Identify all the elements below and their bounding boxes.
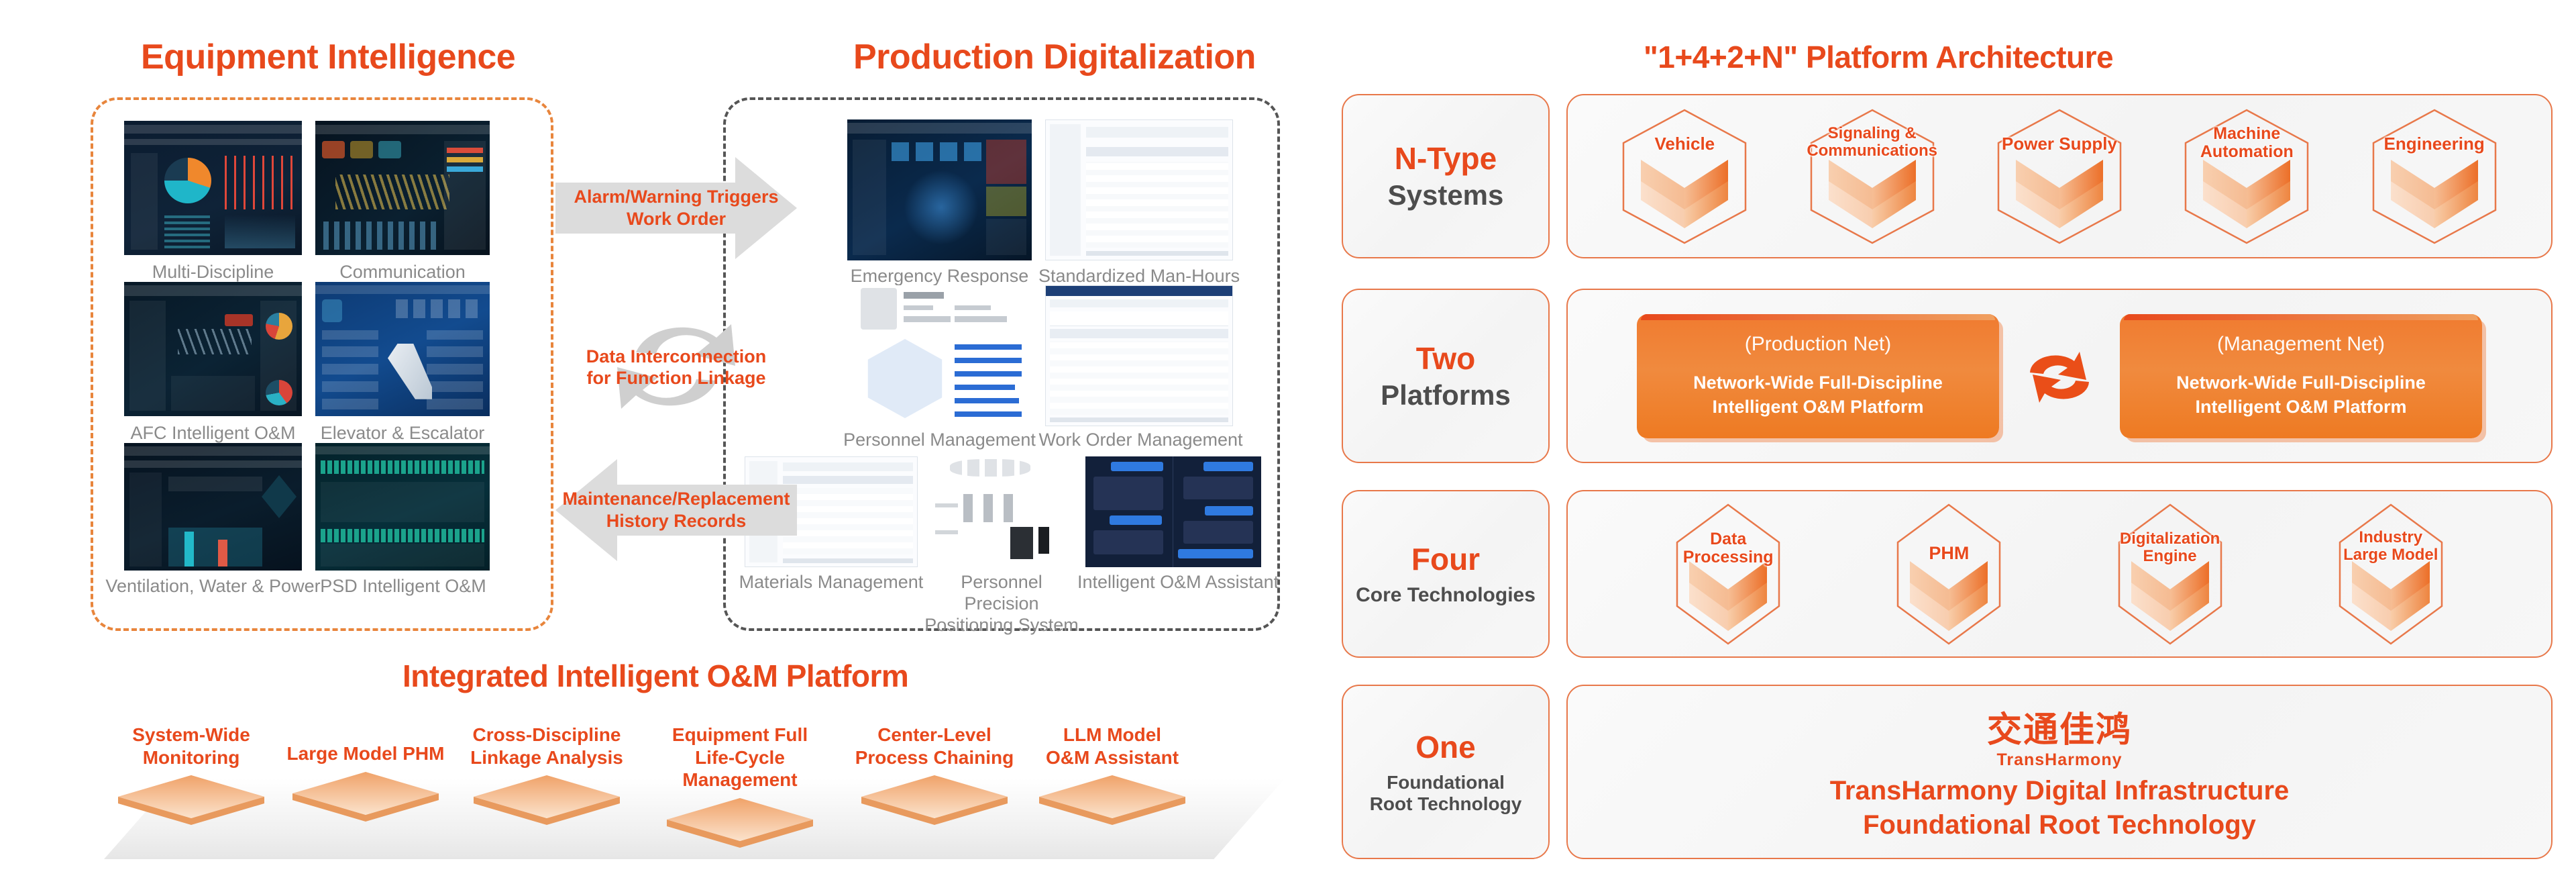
row-label-four: Four Core Technologies: [1342, 490, 1550, 658]
platform-subtitle: (Management Net): [2217, 333, 2385, 356]
screenshot-psd-intelligent-om: [315, 443, 490, 571]
arrow-data-interconnection: Data Interconnection for Function Linkag…: [555, 305, 797, 430]
brand-name-cn: 交通佳鸿: [1568, 701, 2551, 752]
row-label: Systems: [1388, 179, 1504, 211]
screenshot-multi-discipline: [124, 121, 302, 255]
caption-communication: Communication: [315, 262, 490, 283]
pillar-llm-model-om-assistant[interactable]: LLM Model O&M Assistant: [1025, 724, 1199, 830]
screenshot-emergency-response: [847, 119, 1032, 260]
pillar-equipment-full-life-cycle-management[interactable]: Equipment Full Life-Cycle Management: [636, 724, 844, 852]
pillar-label: Center-Level Process Chaining: [844, 724, 1025, 769]
caption-elevator-escalator: Elevator & Escalator: [315, 423, 490, 444]
diamond-plate-icon: [1035, 771, 1189, 826]
caption-personnel-management: Personnel Management: [837, 430, 1042, 450]
diamond-plate-icon: [470, 771, 624, 826]
screenshot-elevator-escalator: [315, 282, 490, 416]
row-content-two: (Production Net) Network-Wide Full-Disci…: [1566, 289, 2553, 463]
screenshot-afc-intelligent-om: [124, 282, 302, 416]
equipment-intelligence-title: Equipment Intelligence: [141, 37, 515, 77]
integrated-platform-title: Integrated Intelligent O&M Platform: [402, 658, 908, 694]
caption-emergency-response: Emergency Response: [841, 266, 1038, 287]
node-engineering[interactable]: Engineering: [2364, 106, 2505, 247]
pillar-label: Equipment Full Life-Cycle Management: [636, 724, 844, 791]
screenshot-standardized-man-hours: [1045, 119, 1233, 260]
caption-multi-discipline: Multi-Discipline: [124, 262, 302, 283]
node-machine-automation[interactable]: Machine Automation: [2176, 106, 2317, 247]
production-digitalization-title: Production Digitalization: [853, 37, 1256, 77]
pillar-cross-discipline-linkage-analysis[interactable]: Cross-Discipline Linkage Analysis: [456, 724, 637, 830]
row-label-two: Two Platforms: [1342, 289, 1550, 463]
diamond-plate-icon: [288, 768, 443, 823]
arrow-label-alarm: Alarm/Warning Triggers Work Order: [555, 186, 797, 230]
screenshot-personnel-management: [847, 285, 1032, 426]
platform-management-net[interactable]: (Management Net) Network-Wide Full-Disci…: [2120, 314, 2482, 438]
node-label: Signaling & Communications: [1795, 125, 1949, 160]
row-content-n-type: Vehicle Signaling & Communications Power…: [1566, 94, 2553, 258]
brand-tagline: TransHarmony Digital Infrastructure Foun…: [1568, 774, 2551, 842]
node-data-processing[interactable]: Data Processing: [1668, 502, 1788, 646]
row-content-one: 交通佳鸿 TransHarmony TransHarmony Digital I…: [1566, 685, 2553, 859]
row-accent: One: [1415, 729, 1475, 765]
platform-subtitle: (Production Net): [1745, 333, 1891, 356]
platform-production-net[interactable]: (Production Net) Network-Wide Full-Disci…: [1637, 314, 1999, 438]
diamond-plate-icon: [857, 771, 1012, 826]
pillar-label: Cross-Discipline Linkage Analysis: [456, 724, 637, 769]
row-label: Core Technologies: [1356, 584, 1536, 607]
row-accent: Two: [1416, 340, 1476, 377]
screenshot-intelligent-om-assistant: [1085, 456, 1261, 567]
node-label: Power Supply: [1982, 134, 2137, 154]
arrow-label-interconnection: Data Interconnection for Function Linkag…: [555, 346, 797, 390]
node-label: Machine Automation: [2175, 125, 2319, 162]
arrow-maintenance-replacement: Maintenance/Replacement History Records: [555, 456, 797, 564]
brand-block: 交通佳鸿 TransHarmony TransHarmony Digital I…: [1568, 701, 2551, 842]
pillar-center-level-process-chaining[interactable]: Center-Level Process Chaining: [844, 724, 1025, 830]
node-digitalization-engine[interactable]: Digitalization Engine: [2110, 502, 2231, 646]
caption-materials-management: Materials Management: [737, 572, 926, 593]
node-industry-large-model[interactable]: Industry Large Model: [2330, 502, 2451, 646]
caption-work-order-management: Work Order Management: [1038, 430, 1243, 450]
caption-psd-intelligent-om: PSD Intelligent O&M: [315, 576, 491, 597]
node-label: Vehicle: [1617, 134, 1752, 154]
platform-title-text: Network-Wide Full-Discipline Intelligent…: [1693, 371, 1943, 420]
caption-ventilation-water-power: Ventilation, Water & Power: [97, 576, 329, 597]
row-content-four: Data Processing PHM Digitalization Engin…: [1566, 490, 2553, 658]
architecture-title: "1+4+2+N" Platform Architecture: [1644, 39, 2113, 75]
row-label: Platforms: [1381, 379, 1511, 411]
screenshot-ventilation-water-power: [124, 443, 302, 571]
node-label: Engineering: [2362, 134, 2506, 154]
screenshot-personnel-precision-positioning: [931, 456, 1072, 567]
row-accent: Four: [1411, 541, 1480, 577]
node-vehicle[interactable]: Vehicle: [1614, 106, 1755, 247]
row-label: Foundational Root Technology: [1370, 772, 1522, 815]
swap-arrow-icon: [2019, 332, 2100, 420]
pillar-system-wide-monitoring[interactable]: System-Wide Monitoring: [107, 724, 275, 830]
row-label-n-type: N-Type Systems: [1342, 94, 1550, 258]
screenshot-communication: [315, 121, 490, 255]
caption-afc-intelligent-om: AFC Intelligent O&M: [117, 423, 309, 444]
node-label: Data Processing: [1661, 530, 1795, 567]
platform-title-text: Network-Wide Full-Discipline Intelligent…: [2176, 371, 2426, 420]
caption-intelligent-om-assistant: Intelligent O&M Assistant: [1077, 572, 1271, 593]
row-label-one: One Foundational Root Technology: [1342, 685, 1550, 859]
brand-name-en: TransHarmony: [1568, 750, 2551, 770]
row-accent: N-Type: [1395, 140, 1497, 177]
pillar-label: Large Model PHM: [282, 742, 449, 765]
node-phm[interactable]: PHM: [1888, 502, 2009, 646]
screenshot-work-order-management: [1045, 285, 1233, 426]
arrow-alarm-warning-triggers: Alarm/Warning Triggers Work Order: [555, 154, 797, 262]
node-power-supply[interactable]: Power Supply: [1989, 106, 2130, 247]
diamond-plate-icon: [663, 794, 817, 849]
pillar-label: System-Wide Monitoring: [107, 724, 275, 769]
caption-standardized-man-hours: Standardized Man-Hours: [1038, 266, 1240, 287]
node-label: Industry Large Model: [2320, 529, 2461, 564]
arrow-label-maintenance: Maintenance/Replacement History Records: [555, 488, 797, 532]
pillar-large-model-phm[interactable]: Large Model PHM: [282, 742, 449, 826]
caption-personnel-precision-positioning: Personnel Precision Positioning System: [924, 572, 1079, 636]
node-label: Digitalization Engine: [2098, 530, 2242, 566]
diamond-plate-icon: [114, 771, 268, 826]
pillar-label: LLM Model O&M Assistant: [1025, 724, 1199, 769]
node-signaling-communications[interactable]: Signaling & Communications: [1802, 106, 1943, 247]
node-label: PHM: [1888, 544, 2009, 564]
